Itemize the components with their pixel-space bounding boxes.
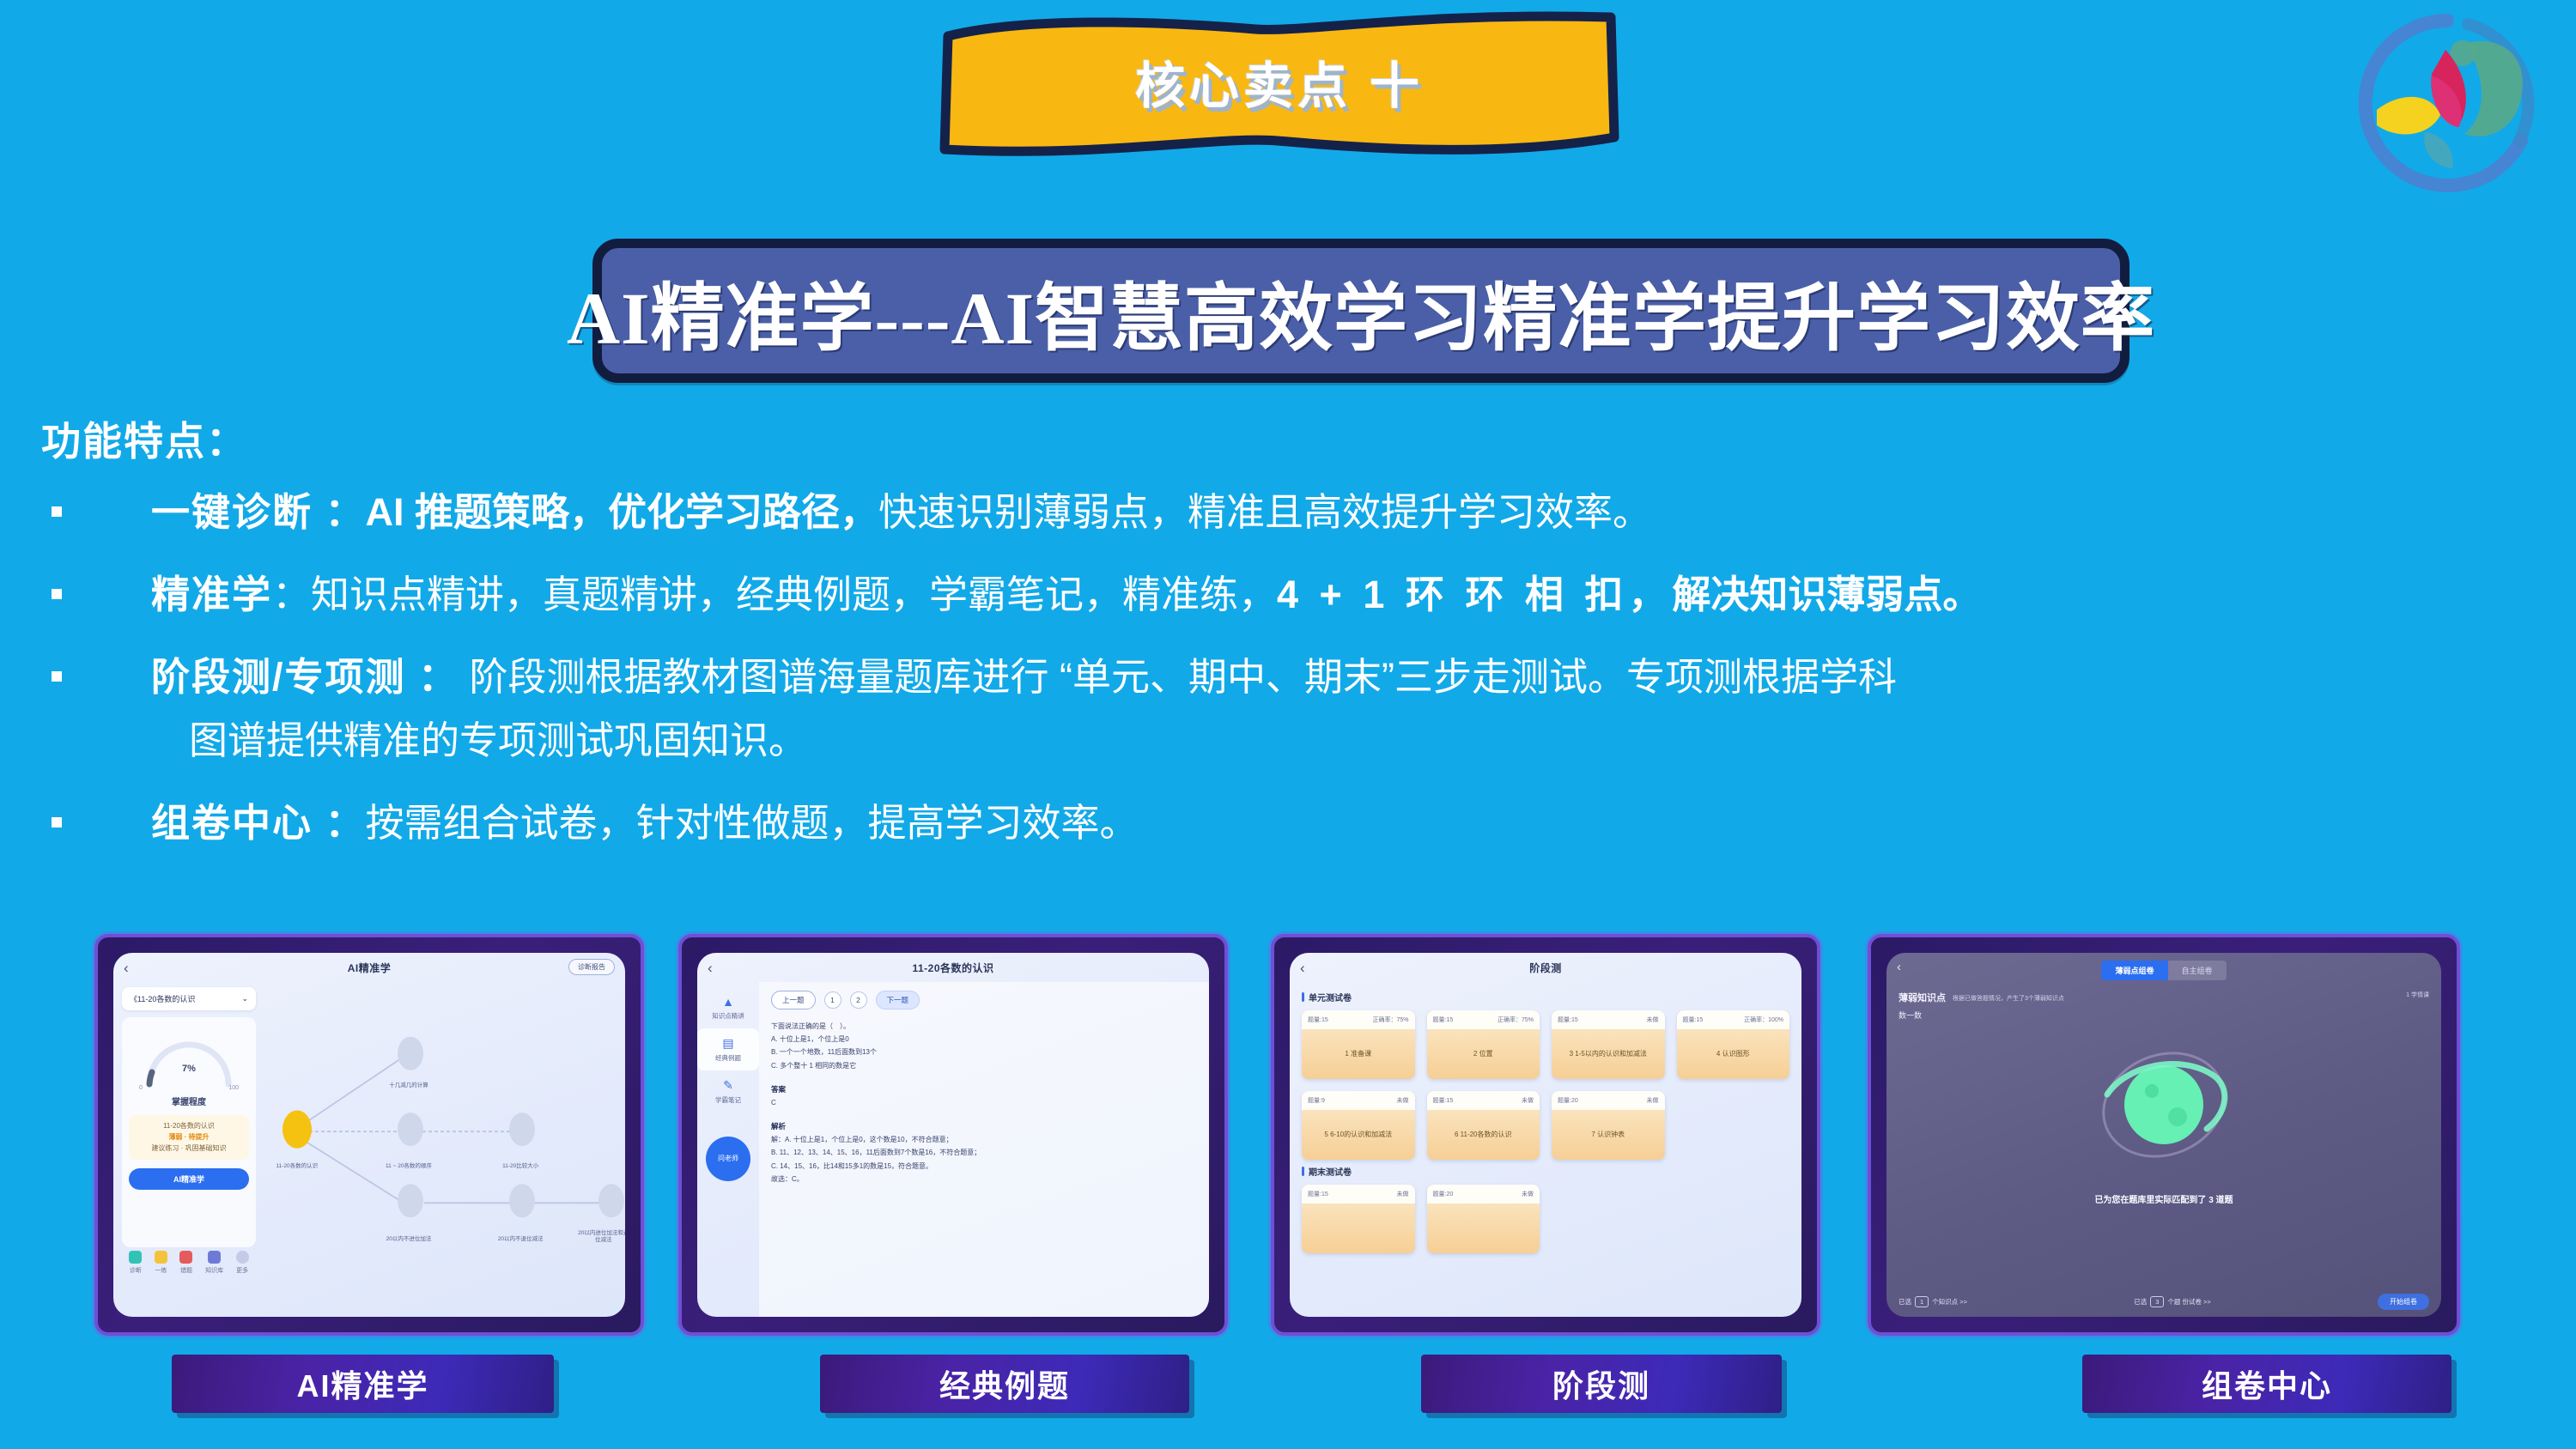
analysis-line: 解：A. 十位上是1，个位上是0，这个数是10，不符合题意； bbox=[771, 1133, 1197, 1146]
ask-teacher-button[interactable]: 问老师 bbox=[706, 1137, 750, 1181]
card-score: 未做 bbox=[1397, 1096, 1409, 1105]
card-score: 正确率：100% bbox=[1744, 1016, 1783, 1024]
screen-paper-center: ‹ 薄弱点组卷 自主组卷 薄弱知识点 根据已做答题情况，产生了3个薄弱知识点 1… bbox=[1886, 953, 2441, 1317]
foot-mid-suffix: 个题 份试卷 >> bbox=[2167, 1297, 2210, 1307]
unit-test-grid: 题量:15正确率：75% 1 准备课 题量:15正确率：75% 2 位置 题量:… bbox=[1302, 1010, 1789, 1160]
bullet-line-continued: 图谱提供精准的专项测试巩固知识。 bbox=[151, 709, 2547, 773]
analysis-line: C. 14、15、16，比14和15多1的数是15，符合题意。 bbox=[771, 1160, 1197, 1173]
list-item: 阶段测/专项测 ： 阶段测根据教材图谱海量题库进行 “单元、期中、期末”三步走测… bbox=[31, 646, 2547, 773]
question-page-1[interactable]: 1 bbox=[824, 991, 841, 1009]
sidebar-item-knowledge[interactable]: ▲ 知识点精讲 bbox=[697, 987, 759, 1028]
mastery-label: 掌握程度 bbox=[129, 1094, 249, 1107]
card-count: 题量:20 bbox=[1558, 1096, 1578, 1105]
tab-knowledge-base[interactable]: 知识库 bbox=[205, 1251, 223, 1275]
question-option-a: A. 十位上是1，个位上是0 bbox=[771, 1033, 1197, 1046]
bullet-rest: ：知识点精讲，真题精讲，经典例题，学霸笔记，精准练， bbox=[272, 573, 1277, 616]
features-heading: 功能特点： bbox=[41, 410, 247, 467]
analysis-line: B. 11、12、13、14、15、16，11后面数到7个数是16，不符合题意； bbox=[771, 1146, 1197, 1159]
card-count: 题量:15 bbox=[1433, 1016, 1454, 1024]
sidebar-item-label: 知识点精讲 bbox=[712, 1012, 744, 1020]
bullet-lead: 组卷中心 ： bbox=[151, 801, 366, 845]
tab-diagnose[interactable]: 诊断 bbox=[129, 1251, 142, 1275]
graph-node-label-active: 11-20各数的认识 bbox=[258, 1163, 336, 1171]
screen-topbar: ‹ 阶段测 bbox=[1290, 953, 1801, 982]
bullet-lead: 一键诊断 ： bbox=[151, 490, 366, 534]
card-count: 题量:9 bbox=[1308, 1096, 1325, 1105]
bullet-lead: 阶段测/专项测 ： bbox=[151, 655, 459, 699]
test-card[interactable]: 题量:15正确率：75% 2 位置 bbox=[1427, 1010, 1540, 1079]
question-text: 下面说法正确的是（ ）。 A. 十位上是1，个位上是0 B. 一个一个地数，11… bbox=[771, 1020, 1197, 1185]
bullet-marker-icon bbox=[52, 589, 62, 599]
chapter-selector-value: 《11-20各数的认识 bbox=[130, 993, 195, 1004]
sidebar-item-label: 学霸笔记 bbox=[715, 1096, 741, 1104]
selected-question-count[interactable]: 已选 3 个题 份试卷 >> bbox=[2134, 1296, 2211, 1307]
test-card[interactable]: 题量:15正确率：75% 1 准备课 bbox=[1302, 1010, 1415, 1079]
card-name: 1 准备课 bbox=[1302, 1029, 1415, 1079]
card-score: 正确率：75% bbox=[1498, 1016, 1534, 1024]
caption-stage-test: 阶段测 bbox=[1421, 1355, 1782, 1413]
card-score: 未做 bbox=[1647, 1016, 1659, 1024]
foot-mid-prefix: 已选 bbox=[2134, 1297, 2147, 1307]
caption-classic-examples: 经典例题 bbox=[820, 1355, 1189, 1413]
pencil-icon: ✎ bbox=[697, 1078, 759, 1093]
note-title: 11-20各数的认识 bbox=[134, 1121, 244, 1132]
bullet-lead: 精准学 bbox=[151, 573, 272, 616]
mastery-gauge: 7% 0 100 bbox=[143, 1034, 235, 1088]
knowledge-icon: ▲ bbox=[697, 995, 759, 1009]
foot-left-suffix: 个知识点 >> bbox=[1932, 1297, 1967, 1307]
screen-title: 阶段测 bbox=[1290, 961, 1801, 975]
graph-node-label: 20以内不退位减法 bbox=[482, 1236, 559, 1244]
question-page-2[interactable]: 2 bbox=[850, 991, 867, 1009]
test-card[interactable]: 题量:15未做 bbox=[1302, 1185, 1415, 1253]
question-nav: 上一题 1 2 下一题 bbox=[771, 991, 1197, 1009]
answer-heading: 答案 bbox=[771, 1082, 1197, 1096]
filter-label[interactable]: 1 学情课 bbox=[2406, 991, 2429, 999]
card-count: 题量:15 bbox=[1308, 1190, 1328, 1198]
test-card[interactable]: 题量:20未做 7 认识钟表 bbox=[1552, 1091, 1665, 1160]
tab-self-paper[interactable]: 自主组卷 bbox=[2168, 961, 2227, 980]
bullet-line: 一键诊断 ：AI 推题策略，优化学习路径，快速识别薄弱点，精准且高效提升学习效率… bbox=[151, 481, 2547, 544]
weak-point-title: 薄弱知识点 bbox=[1899, 991, 1946, 1004]
knowledge-graph: 十几减几的计算 11-20各数的认识 11 ~ 20各数的顺序 11-20比较大… bbox=[264, 982, 625, 1317]
weak-point-subtitle: 根据已做答题情况，产生了3个薄弱知识点 bbox=[1953, 991, 2399, 1003]
tab-label: 知识库 bbox=[205, 1268, 223, 1274]
paper-footer: 已选 1 个知识点 >> 已选 3 个题 份试卷 >> 开始组卷 bbox=[1886, 1294, 2441, 1310]
report-button[interactable]: 诊断报告 bbox=[568, 959, 615, 975]
analysis-heading: 解析 bbox=[771, 1119, 1197, 1133]
test-card[interactable]: 题量:15未做 3 1-5以内的认识和加减法 bbox=[1552, 1010, 1665, 1079]
sidebar-item-examples[interactable]: ▤ 经典例题 bbox=[697, 1028, 759, 1070]
bullet-marker-icon bbox=[52, 506, 62, 517]
question-panel: 上一题 1 2 下一题 下面说法正确的是（ ）。 A. 十位上是1，个位上是0 … bbox=[759, 982, 1209, 1317]
graph-node-label: 11 ~ 20各数的顺序 bbox=[370, 1163, 447, 1171]
card-score: 未做 bbox=[1522, 1096, 1534, 1105]
feature-bullet-list: 一键诊断 ：AI 推题策略，优化学习路径，快速识别薄弱点，精准且高效提升学习效率… bbox=[31, 481, 2547, 874]
graph-node-label: 十几减几的计算 bbox=[370, 1082, 447, 1090]
question-count[interactable]: 3 bbox=[2150, 1296, 2164, 1307]
caption-row: AI精准学 经典例题 阶段测 组卷中心 bbox=[0, 1355, 2576, 1423]
bullet-marker-icon bbox=[52, 817, 62, 828]
tab-more[interactable]: 更多 bbox=[236, 1251, 249, 1275]
screen-title: AI精准学 bbox=[113, 961, 625, 975]
chapter-selector[interactable]: 《11-20各数的认识 ⌄ bbox=[122, 987, 256, 1010]
card-name: 5 6-10的认识和加减法 bbox=[1302, 1110, 1415, 1160]
bullet-line: 组卷中心 ：按需组合试卷，针对性做题，提高学习效率。 bbox=[151, 791, 2547, 855]
card-score: 未做 bbox=[1647, 1096, 1659, 1105]
tab-label: 更多 bbox=[236, 1268, 248, 1274]
screen-topbar: ‹ 11-20各数的认识 bbox=[697, 953, 1209, 982]
card-name: 2 位置 bbox=[1427, 1029, 1540, 1079]
tab-label: 诊断 bbox=[130, 1268, 142, 1274]
mastery-card: 7% 0 100 掌握程度 11-20各数的认识 薄弱 · 待提升 建议练习 ·… bbox=[122, 1017, 256, 1247]
screen-classic-examples: ‹ 11-20各数的认识 ▲ 知识点精讲 ▤ 经典例题 bbox=[697, 953, 1209, 1317]
knowledge-graph-edges bbox=[264, 982, 625, 1317]
tab-practice[interactable]: 一练 bbox=[155, 1251, 167, 1275]
test-card[interactable]: 题量:15未做 6 11-20各数的认识 bbox=[1427, 1091, 1540, 1160]
tab-wrong-questions[interactable]: 错题 bbox=[179, 1251, 192, 1275]
planet-illustration bbox=[1886, 1026, 2441, 1189]
tab-label: 一练 bbox=[155, 1268, 167, 1274]
list-item: 精准学：知识点精讲，真题精讲，经典例题，学霸笔记，精准练，4 + 1 环 环 相… bbox=[31, 563, 2547, 627]
card-count: 题量:20 bbox=[1433, 1190, 1454, 1198]
next-question-button[interactable]: 下一题 bbox=[876, 991, 920, 1009]
gauge-min: 0 bbox=[139, 1085, 143, 1091]
caption-paper-center: 组卷中心 bbox=[2082, 1355, 2451, 1413]
bullet-rest: 按需组合试卷，针对性做题，提高学习效率。 bbox=[366, 801, 1139, 845]
screen-stage-test: ‹ 阶段测 单元测试卷 题量:15正确率：75% 1 准备课 题量:15正确率：… bbox=[1290, 953, 1801, 1317]
prev-question-button[interactable]: 上一题 bbox=[771, 991, 816, 1009]
list-item: 组卷中心 ：按需组合试卷，针对性做题，提高学习效率。 bbox=[31, 791, 2547, 855]
tab-weak-point-paper[interactable]: 薄弱点组卷 bbox=[2101, 961, 2167, 980]
note-line-1: 薄弱 · 待提升 bbox=[134, 1132, 244, 1143]
diagnosis-panel: 《11-20各数的认识 ⌄ 7% 0 100 bbox=[113, 982, 264, 1317]
sidebar-item-notes[interactable]: ✎ 学霸笔记 bbox=[697, 1070, 759, 1113]
question-option-c: C. 多个整十 1 相同的数是它 bbox=[771, 1059, 1197, 1072]
card-score: 未做 bbox=[1522, 1190, 1534, 1198]
graph-node-label: 20以内不进位加法 bbox=[370, 1236, 447, 1244]
device-frame-classic-examples: ‹ 11-20各数的认识 ▲ 知识点精讲 ▤ 经典例题 bbox=[678, 934, 1228, 1336]
bullet-rest: 阶段测根据教材图谱海量题库进行 “单元、期中、期末”三步走测试。专项测根据学科 bbox=[459, 655, 1897, 699]
test-card[interactable]: 题量:9未做 5 6-10的认识和加减法 bbox=[1302, 1091, 1415, 1160]
screen-ai-precision: ‹ AI精准学 诊断报告 《11-20各数的认识 ⌄ bbox=[113, 953, 625, 1317]
graph-node-label: 11-20比较大小 bbox=[482, 1163, 559, 1171]
device-frame-ai-precision: ‹ AI精准学 诊断报告 《11-20各数的认识 ⌄ bbox=[94, 934, 644, 1336]
final-test-grid: 题量:15未做 题量:20未做 bbox=[1302, 1185, 1789, 1253]
generate-paper-button[interactable]: 开始组卷 bbox=[2378, 1294, 2429, 1310]
section-unit-tests: 单元测试卷 bbox=[1302, 991, 1789, 1003]
slide-root: 核心卖点 十 AI精准学---AI智慧高效学习精准学提升学习效率 功能特点： 一… bbox=[0, 0, 2576, 1449]
screen-topbar: ‹ AI精准学 诊断报告 bbox=[113, 953, 625, 982]
ai-precision-learn-button[interactable]: AI精准学 bbox=[129, 1168, 249, 1190]
lesson-sidebar: ▲ 知识点精讲 ▤ 经典例题 ✎ 学霸笔记 问老师 bbox=[697, 982, 759, 1317]
test-card[interactable]: 题量:20未做 bbox=[1427, 1185, 1540, 1253]
page-title-text: AI精准学---AI智慧高效学习精准学提升学习效率 bbox=[567, 258, 2155, 365]
match-status-text: 已为您在题库里实际匹配到了 3 道题 bbox=[1886, 1192, 2441, 1205]
list-icon: ▤ bbox=[697, 1036, 759, 1051]
weak-point-header: 薄弱知识点 根据已做答题情况，产生了3个薄弱知识点 1 学情课 bbox=[1886, 984, 2441, 1004]
note-line-2: 建议练习 · 巩固基础知识 bbox=[134, 1143, 244, 1155]
card-name: 3 1-5以内的认识和加减法 bbox=[1552, 1029, 1665, 1079]
card-count: 题量:15 bbox=[1558, 1016, 1578, 1024]
question-line: 下面说法正确的是（ ）。 bbox=[771, 1020, 1197, 1033]
card-count: 题量:15 bbox=[1433, 1096, 1454, 1105]
card-score: 正确率：75% bbox=[1372, 1016, 1408, 1024]
card-name: 4 认识图形 bbox=[1677, 1029, 1790, 1079]
bullet-emphasis: AI 推题策略，优化学习路径， bbox=[366, 490, 879, 534]
section-final-tests: 期末测试卷 bbox=[1302, 1165, 1789, 1178]
device-frame-stage-test: ‹ 阶段测 单元测试卷 题量:15正确率：75% 1 准备课 题量:15正确率：… bbox=[1271, 934, 1820, 1336]
card-name: 6 11-20各数的认识 bbox=[1427, 1110, 1540, 1160]
screen-topbar: ‹ 薄弱点组卷 自主组卷 bbox=[1886, 953, 2441, 984]
banner-title: 核心卖点 十 bbox=[936, 7, 1623, 161]
screen-title: 11-20各数的认识 bbox=[697, 961, 1209, 975]
analysis-line: 故选：C。 bbox=[771, 1173, 1197, 1185]
card-count: 题量:15 bbox=[1683, 1016, 1704, 1024]
chevron-down-icon: ⌄ bbox=[241, 994, 248, 1003]
bullet-rest: 快速识别薄弱点，精准且高效提升学习效率。 bbox=[878, 490, 1651, 534]
caption-ai-precision: AI精准学 bbox=[172, 1355, 554, 1413]
sidebar-item-label: 经典例题 bbox=[715, 1054, 741, 1062]
selected-knowledge-points[interactable]: 已选 1 个知识点 >> bbox=[1899, 1296, 1967, 1307]
device-showcase-row: ‹ AI精准学 诊断报告 《11-20各数的认识 ⌄ bbox=[0, 934, 2576, 1346]
card-count: 题量:15 bbox=[1308, 1016, 1328, 1024]
section-banner: 核心卖点 十 bbox=[936, 7, 1623, 161]
knowledge-point-count[interactable]: 1 bbox=[1915, 1296, 1929, 1307]
bottom-tabbar: 诊断 一练 错题 知识库 更多 bbox=[122, 1247, 256, 1275]
foot-left-prefix: 已选 bbox=[1899, 1297, 1911, 1307]
device-frame-paper-center: ‹ 薄弱点组卷 自主组卷 薄弱知识点 根据已做答题情况，产生了3个薄弱知识点 1… bbox=[1868, 934, 2460, 1336]
bullet-tail: 解决知识薄弱点。 bbox=[1672, 573, 1981, 616]
card-score: 未做 bbox=[1397, 1190, 1409, 1198]
test-card[interactable]: 题量:15正确率：100% 4 认识图形 bbox=[1677, 1010, 1790, 1079]
bullet-line: 阶段测/专项测 ： 阶段测根据教材图谱海量题库进行 “单元、期中、期末”三步走测… bbox=[151, 646, 2547, 709]
card-name: 7 认识钟表 bbox=[1552, 1110, 1665, 1160]
weak-point-note: 11-20各数的认识 薄弱 · 待提升 建议练习 · 巩固基础知识 bbox=[129, 1115, 249, 1160]
bullet-line: 精准学：知识点精讲，真题精讲，经典例题，学霸笔记，精准练，4 + 1 环 环 相… bbox=[151, 563, 2547, 627]
answer-value: C bbox=[771, 1096, 1197, 1109]
gauge-max: 100 bbox=[228, 1085, 239, 1091]
bullet-marker-icon bbox=[52, 671, 62, 682]
back-icon[interactable]: ‹ bbox=[1897, 960, 1901, 974]
list-item: 一键诊断 ：AI 推题策略，优化学习路径，快速识别薄弱点，精准且高效提升学习效率… bbox=[31, 481, 2547, 544]
chapter-name: 数一数 bbox=[1886, 1004, 2441, 1026]
bullet-emphasis: 4 + 1 环 环 相 扣， bbox=[1277, 573, 1672, 616]
question-option-b: B. 一个一个地数，11后面数到13个 bbox=[771, 1046, 1197, 1058]
company-logo bbox=[2336, 5, 2559, 203]
page-title: AI精准学---AI智慧高效学习精准学提升学习效率 bbox=[592, 239, 2129, 383]
mastery-percent: 7% bbox=[143, 1064, 235, 1074]
graph-node-label: 20以内进位加法和退位减法 bbox=[577, 1230, 625, 1246]
tab-label: 错题 bbox=[180, 1268, 192, 1274]
